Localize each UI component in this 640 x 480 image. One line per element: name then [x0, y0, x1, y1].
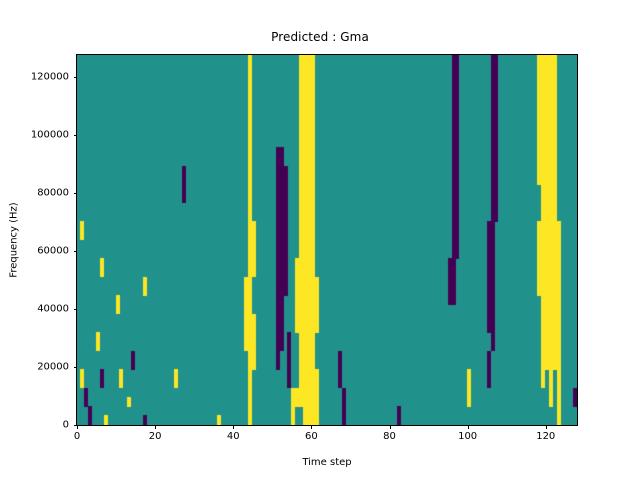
x-tick-mark: [311, 425, 312, 429]
x-tick-mark: [390, 425, 391, 429]
page-title: Predicted : Gma: [0, 30, 640, 44]
x-tick-label: 100: [458, 431, 477, 442]
y-tick-mark: [74, 135, 78, 136]
x-axis-label: Time step: [77, 457, 577, 468]
x-tick-label: 40: [227, 431, 240, 442]
y-tick-mark: [74, 251, 78, 252]
heatmap-axes: [76, 54, 578, 426]
x-tick-label: 20: [149, 431, 162, 442]
x-tick-label: 80: [383, 431, 396, 442]
y-tick-mark: [74, 309, 78, 310]
y-tick-label: 20000: [0, 361, 69, 372]
heatmap-canvas: [77, 55, 577, 425]
x-tick-label: 60: [305, 431, 318, 442]
y-tick-label: 120000: [0, 71, 69, 82]
y-tick-mark: [74, 367, 78, 368]
y-tick-label: 100000: [0, 129, 69, 140]
y-tick-label: 40000: [0, 303, 69, 314]
y-tick-mark: [74, 193, 78, 194]
x-tick-mark: [155, 425, 156, 429]
y-tick-mark: [74, 77, 78, 78]
x-tick-label: 0: [74, 431, 80, 442]
x-tick-mark: [546, 425, 547, 429]
x-tick-mark: [468, 425, 469, 429]
y-tick-label: 0: [0, 420, 69, 431]
x-tick-label: 120: [536, 431, 555, 442]
matplotlib-figure: Predicted : Gma 020000400006000080000100…: [0, 0, 640, 480]
y-axis-label: Frequency (Hz): [9, 202, 20, 277]
y-tick-label: 80000: [0, 187, 69, 198]
x-tick-mark: [233, 425, 234, 429]
y-axis-label-wrapper: Frequency (Hz): [14, 0, 15, 480]
x-tick-mark: [77, 425, 78, 429]
